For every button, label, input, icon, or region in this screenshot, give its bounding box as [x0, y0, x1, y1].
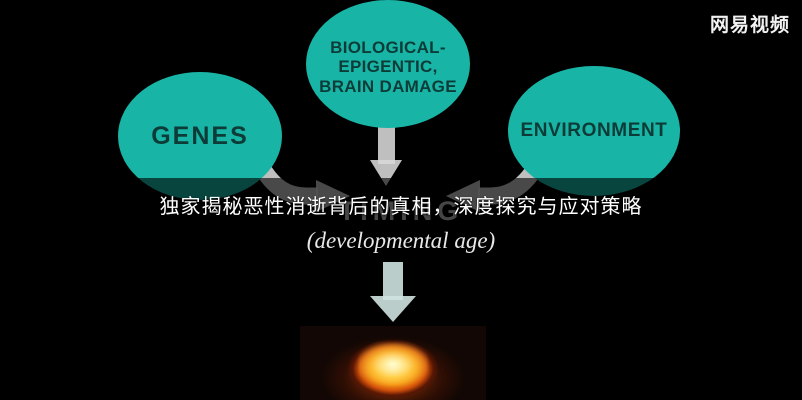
- node-environment-label: ENVIRONMENT: [521, 120, 668, 142]
- node-biological: BIOLOGICAL-EPIGENTIC,BRAIN DAMAGE: [306, 0, 470, 128]
- node-genes-label: GENES: [151, 122, 249, 151]
- caption-text: 独家揭秘恶性消逝背后的真相，深度探究与应对策略: [160, 190, 643, 219]
- explosion-image: [300, 326, 486, 400]
- video-frame: GENES BIOLOGICAL-EPIGENTIC,BRAIN DAMAGE …: [0, 0, 802, 400]
- node-biological-label: BIOLOGICAL-EPIGENTIC,BRAIN DAMAGE: [319, 38, 457, 97]
- node-environment: ENVIRONMENT: [508, 66, 680, 196]
- caption-bar: 独家揭秘恶性消逝背后的真相，深度探究与应对策略: [0, 178, 802, 230]
- center-sublabel-developmental-age: (developmental age): [0, 228, 802, 254]
- watermark-logo: 网易视频: [710, 10, 790, 37]
